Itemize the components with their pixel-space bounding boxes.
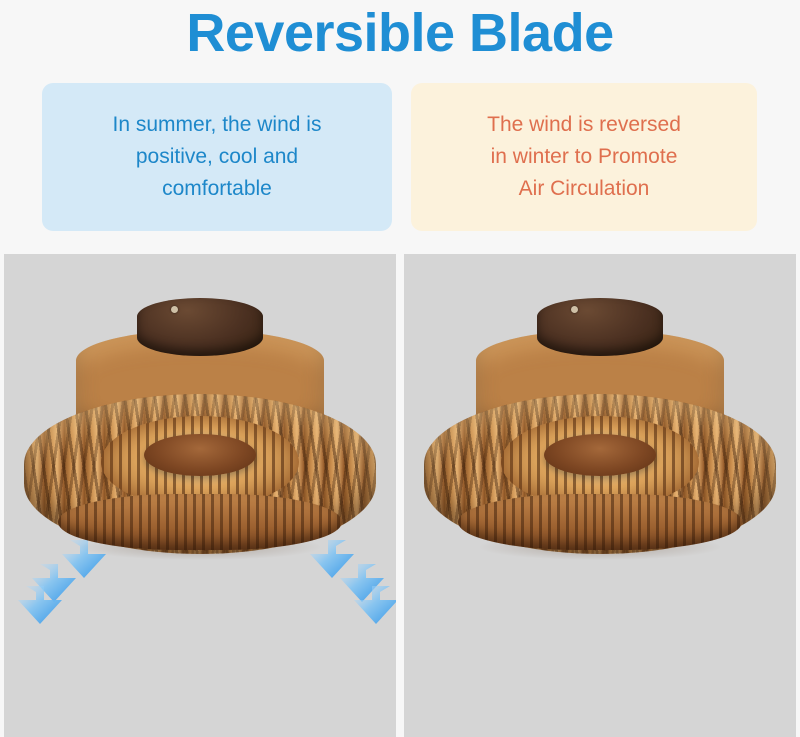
fan-bottom-rim (458, 494, 742, 550)
callout-summer-text: In summer, the wind is positive, cool an… (113, 109, 322, 205)
callout-summer-line-3: comfortable (113, 173, 322, 205)
fan-canopy (137, 298, 263, 356)
callout-winter-line-3: Air Circulation (487, 173, 681, 205)
fan-bottom-rim (58, 494, 342, 550)
callout-summer: In summer, the wind is positive, cool an… (42, 83, 392, 231)
fan-blade-hub (144, 434, 256, 476)
infographic-page: Reversible Blade In summer, the wind is … (0, 0, 800, 737)
panel-winter-stage (404, 254, 796, 737)
blue-intake-arrows-top-right-icon (300, 542, 396, 642)
panel-summer-airflow (4, 254, 396, 737)
ceiling-fan-fixture-winter (424, 298, 776, 588)
blue-intake-arrows-top-left-icon (12, 542, 122, 642)
fan-blade-hub (544, 434, 656, 476)
callout-summer-line-1: In summer, the wind is (113, 109, 322, 141)
panel-summer-stage (4, 254, 396, 737)
callout-winter: The wind is reversed in winter to Promot… (411, 83, 757, 231)
callout-winter-text: The wind is reversed in winter to Promot… (487, 109, 681, 205)
callout-summer-line-2: positive, cool and (113, 141, 322, 173)
panel-winter-airflow (404, 254, 796, 737)
fan-canopy (537, 298, 663, 356)
page-title: Reversible Blade (0, 2, 800, 64)
callout-winter-line-2: in winter to Promote (487, 141, 681, 173)
callout-winter-line-1: The wind is reversed (487, 109, 681, 141)
